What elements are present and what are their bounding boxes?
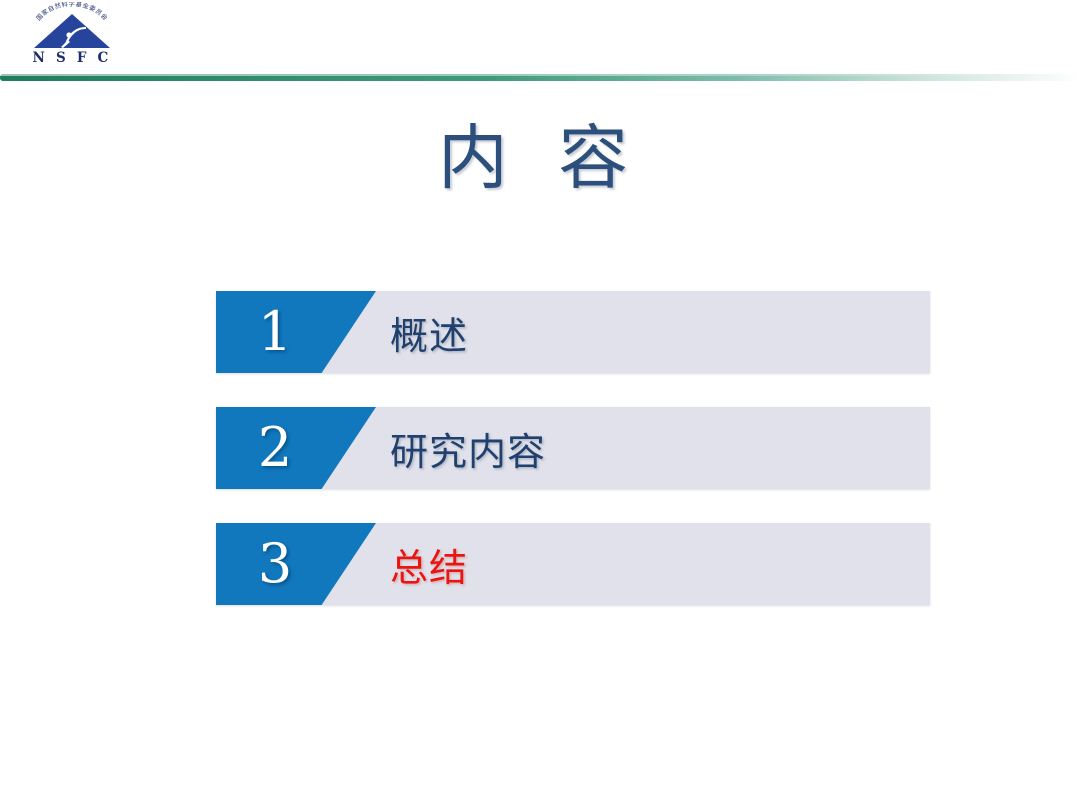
agenda-item-number: 3 bbox=[216, 523, 334, 605]
agenda-item-label: 研究内容 bbox=[390, 407, 546, 489]
slide-header: 国家自然科学基金委员会 N S F C bbox=[0, 0, 1080, 84]
agenda-item-1[interactable]: 1 概述 bbox=[216, 291, 930, 373]
agenda-item-3[interactable]: 3 总结 bbox=[216, 523, 930, 605]
agenda-item-2[interactable]: 2 研究内容 bbox=[216, 407, 930, 489]
agenda-item-label: 概述 bbox=[390, 291, 468, 373]
divider-highlight bbox=[0, 74, 1080, 76]
nsfc-logo-icon: 国家自然科学基金委员会 N S F C bbox=[18, 2, 126, 64]
slide-canvas: 国家自然科学基金委员会 N S F C 内 容 1 概述 bbox=[0, 0, 1080, 810]
agenda-item-label: 总结 bbox=[390, 523, 468, 605]
agenda-item-number: 1 bbox=[216, 291, 334, 373]
agenda-list: 1 概述 2 研究内容 3 总结 bbox=[216, 291, 930, 605]
page-title: 内 容 bbox=[0, 112, 1080, 204]
agenda-item-number: 2 bbox=[216, 407, 334, 489]
logo-acronym: N S F C bbox=[33, 50, 112, 64]
